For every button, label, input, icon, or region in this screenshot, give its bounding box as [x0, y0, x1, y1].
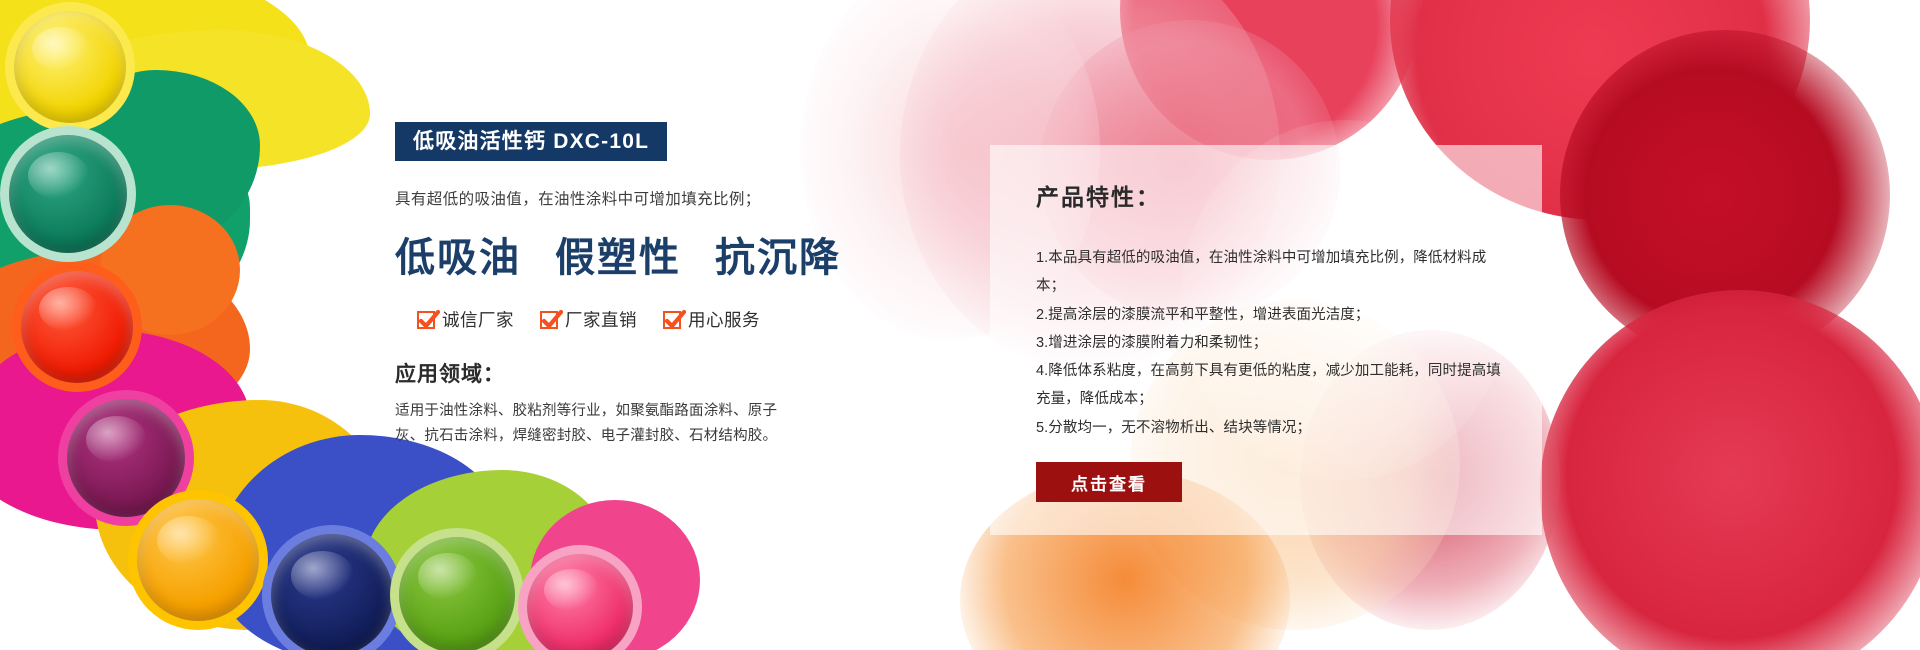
checkbox-checked-icon	[417, 311, 435, 329]
features-panel-content: 产品特性： 1.本品具有超低的吸油值，在油性涂料中可增加填充比例，降低材料成本；…	[1036, 178, 1506, 442]
trust-badge-label: 厂家直销	[565, 307, 637, 332]
trust-badge-label: 用心服务	[688, 307, 760, 332]
left-text-column: 低吸油活性钙 DXC-10L 具有超低的吸油值，在油性涂料中可增加填充比例； 低…	[395, 122, 875, 450]
checkbox-checked-icon	[663, 311, 681, 329]
promo-banner: 低吸油活性钙 DXC-10L 具有超低的吸油值，在油性涂料中可增加填充比例； 低…	[0, 0, 1920, 650]
feature-item: 2.提高涂层的漆膜流平和平整性，增进表面光洁度；	[1036, 301, 1506, 329]
trust-badge-label: 诚信厂家	[442, 307, 514, 332]
product-subtitle: 具有超低的吸油值，在油性涂料中可增加填充比例；	[395, 187, 875, 209]
application-heading: 应用领域：	[395, 358, 875, 388]
product-headline: 低吸油假塑性抗沉降	[395, 225, 875, 283]
checkbox-checked-icon	[540, 311, 558, 329]
trust-badge-1: 诚信厂家	[417, 307, 514, 332]
features-heading: 产品特性：	[1036, 178, 1506, 212]
feature-item: 5.分散均一，无不溶物析出、结块等情况；	[1036, 414, 1506, 442]
headline-part-2: 假塑性	[555, 236, 681, 280]
headline-part-3: 抗沉降	[715, 236, 841, 280]
view-details-button[interactable]: 点击查看	[1036, 462, 1182, 502]
application-body: 适用于油性涂料、胶粘剂等行业，如聚氨酯路面涂料、原子灰、抗石击涂料，焊缝密封胶、…	[395, 399, 787, 450]
product-title-tag: 低吸油活性钙 DXC-10L	[395, 122, 667, 161]
banner-content: 低吸油活性钙 DXC-10L 具有超低的吸油值，在油性涂料中可增加填充比例； 低…	[0, 0, 1920, 650]
features-list: 1.本品具有超低的吸油值，在油性涂料中可增加填充比例，降低材料成本； 2.提高涂…	[1036, 244, 1506, 442]
headline-part-1: 低吸油	[395, 236, 521, 280]
feature-item: 4.降低体系粘度，在高剪下具有更低的粘度，减少加工能耗，同时提高填充量，降低成本…	[1036, 357, 1506, 414]
feature-item: 3.增进涂层的漆膜附着力和柔韧性；	[1036, 329, 1506, 357]
feature-item: 1.本品具有超低的吸油值，在油性涂料中可增加填充比例，降低材料成本；	[1036, 244, 1506, 301]
trust-badge-2: 厂家直销	[540, 307, 637, 332]
trust-badges: 诚信厂家 厂家直销 用心服务	[417, 307, 875, 332]
trust-badge-3: 用心服务	[663, 307, 760, 332]
